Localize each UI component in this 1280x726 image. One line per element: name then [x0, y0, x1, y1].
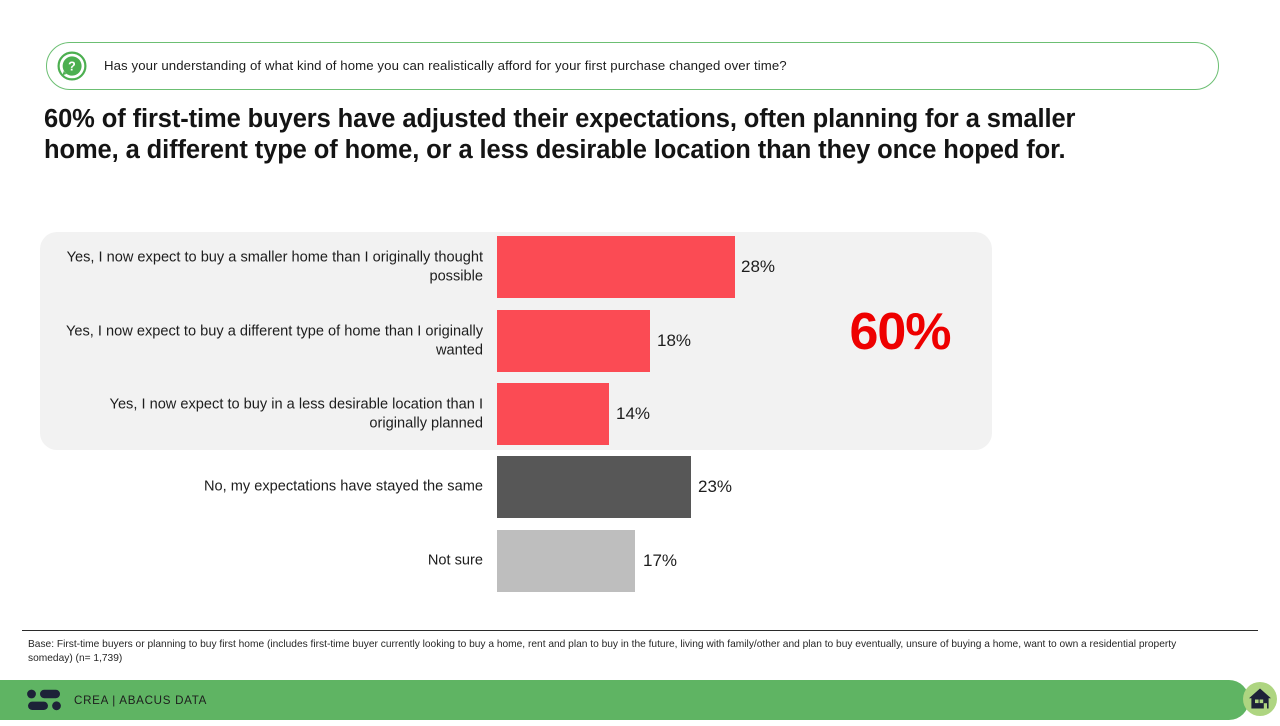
svg-text:?: ? — [68, 59, 76, 73]
bar-value: 18% — [657, 331, 691, 351]
highlight-stat: 60% — [812, 306, 988, 358]
footer-brand-text: CREA | ABACUS DATA — [74, 694, 207, 707]
bar-segment — [497, 383, 609, 445]
question-text: Has your understanding of what kind of h… — [104, 58, 787, 74]
question-bubble-icon: ? — [57, 51, 87, 81]
bar-row: Yes, I now expect to buy in a less desir… — [0, 383, 1280, 445]
bar-segment — [497, 456, 691, 518]
bar-value: 14% — [616, 404, 650, 424]
bar-segment — [497, 236, 735, 298]
bar-label: Yes, I now expect to buy a smaller home … — [63, 248, 483, 285]
bar-label: Yes, I now expect to buy in a less desir… — [63, 395, 483, 432]
bar-label: Yes, I now expect to buy a different typ… — [63, 322, 483, 359]
bar-row: No, my expectations have stayed the same… — [0, 456, 1280, 518]
bar-segment — [497, 310, 650, 372]
bar-label: Not sure — [63, 552, 483, 571]
footer-bar: CREA | ABACUS DATA — [0, 680, 1249, 720]
highlight-panel — [40, 232, 992, 450]
bar-value: 23% — [698, 477, 732, 497]
bar-row: Yes, I now expect to buy a smaller home … — [0, 236, 1280, 298]
bar-row: Yes, I now expect to buy a different typ… — [0, 310, 1280, 372]
bar-segment — [497, 530, 635, 592]
question-banner: ? Has your understanding of what kind of… — [46, 42, 1219, 90]
bar-row: Not sure 17% — [0, 530, 1280, 592]
footnote-text: Base: First-time buyers or planning to b… — [28, 638, 1223, 667]
page-title: 60% of first-time buyers have adjusted t… — [44, 104, 1154, 167]
bar-label: No, my expectations have stayed the same — [63, 478, 483, 497]
home-icon[interactable] — [1238, 677, 1280, 721]
footnote-divider — [22, 630, 1258, 631]
crea-abacus-logo-icon — [26, 688, 62, 712]
bar-value: 17% — [643, 551, 677, 571]
bar-value: 28% — [741, 257, 775, 277]
